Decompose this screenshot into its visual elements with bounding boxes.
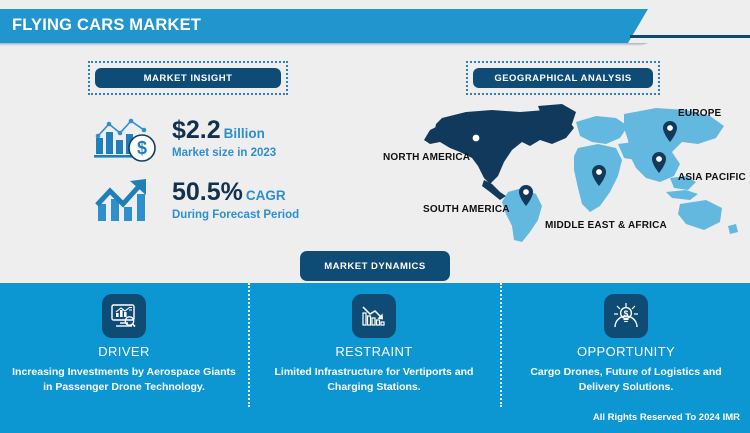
market-insight-label: MARKET INSIGHT [144, 73, 233, 84]
stat-cagr-value-row: 50.5%CAGR [172, 179, 299, 205]
stat-cagr-text: 50.5%CAGR During Forecast Period [172, 179, 299, 221]
market-dynamics-header: MARKET DYNAMICS [300, 251, 450, 281]
map-label-europe: EUROPE [678, 108, 721, 119]
region-australia [678, 200, 722, 230]
market-insight-pill: MARKET INSIGHT [95, 68, 281, 88]
svg-text:$: $ [624, 310, 629, 319]
dynamics-panel-driver: DRIVER Increasing Investments by Aerospa… [0, 283, 248, 407]
growth-arrow-icon [92, 174, 158, 226]
stat-cagr-caption: During Forecast Period [172, 209, 299, 221]
region-asia [624, 108, 724, 182]
dynamics-title-opportunity: OPPORTUNITY [577, 344, 675, 359]
map-label-asia-pacific: ASIA PACIFIC [678, 172, 746, 183]
header: FLYING CARS MARKET [0, 9, 750, 43]
geographical-analysis-header: GEOGRAPHICAL ANALYSIS [466, 61, 660, 95]
stat-market-size-text: $2.2Billion Market size in 2023 [172, 117, 276, 159]
stat-cagr: 50.5%CAGR During Forecast Period [92, 174, 299, 226]
dynamics-description-opportunity: Cargo Drones, Future of Logistics and De… [514, 365, 739, 395]
dynamics-panel-restraint: RESTRAINT Limited Infrastructure for Ver… [250, 283, 498, 407]
dynamics-description-restraint: Limited Infrastructure for Vertiports an… [262, 365, 487, 395]
region-indonesia [666, 190, 698, 200]
infographic-root: FLYING CARS MARKET MARKET INSIGHT GEOGRA… [0, 0, 750, 433]
footer-copyright: All Rights Reserved To 2024 IMR [593, 412, 740, 423]
stat-market-size-unit: Billion [224, 126, 265, 141]
region-europe [576, 116, 628, 144]
stat-market-size-caption: Market size in 2023 [172, 147, 276, 159]
analytics-monitor-icon [102, 294, 146, 338]
header-rule [630, 35, 750, 38]
dynamics-description-driver: Increasing Investments by Aerospace Gian… [12, 365, 237, 395]
region-central-america [482, 180, 506, 200]
page-title: FLYING CARS MARKET [12, 16, 201, 35]
svg-text:$: $ [137, 138, 147, 158]
stat-market-size-value: $2.2 [172, 116, 221, 144]
map-label-middle-east-africa: MIDDLE EAST & AFRICA [545, 220, 667, 231]
world-map: NORTH AMERICA SOUTH AMERICA EUROPE ASIA … [380, 100, 750, 248]
geographical-analysis-pill: GEOGRAPHICAL ANALYSIS [473, 68, 653, 88]
bar-chart-dollar-icon: $ [92, 112, 158, 164]
stat-cagr-value: 50.5% [172, 178, 243, 206]
stat-market-size-value-row: $2.2Billion [172, 117, 276, 143]
header-banner-shadow [0, 43, 648, 46]
map-label-south-america: SOUTH AMERICA [423, 204, 510, 215]
declining-chart-icon [352, 294, 396, 338]
dynamics-panel-opportunity: $ OPPORTUNITY Cargo Drones, Future of Lo… [502, 283, 750, 407]
market-dynamics-label: MARKET DYNAMICS [324, 261, 425, 272]
region-new-zealand [728, 224, 738, 234]
region-north-america-west [424, 126, 440, 144]
stat-market-size: $ $2.2Billion Market size in 2023 [92, 112, 276, 164]
dynamics-title-driver: DRIVER [98, 344, 150, 359]
dynamics-title-restraint: RESTRAINT [335, 344, 412, 359]
lightbulb-dollar-icon: $ [604, 294, 648, 338]
map-label-north-america: NORTH AMERICA [383, 152, 470, 163]
stat-cagr-unit: CAGR [246, 188, 286, 203]
geographical-analysis-label: GEOGRAPHICAL ANALYSIS [494, 73, 631, 84]
market-insight-header: MARKET INSIGHT [88, 61, 288, 95]
